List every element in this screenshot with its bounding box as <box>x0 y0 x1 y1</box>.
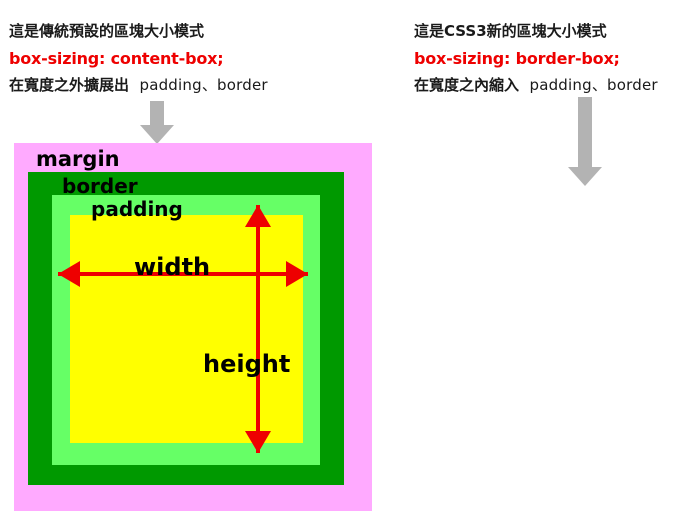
height-arrow-icon <box>245 205 271 453</box>
width-arrow-left-head <box>58 261 80 287</box>
height-arrow-bottom-head <box>245 431 271 453</box>
margin-label: margin <box>36 149 120 170</box>
border-box-diagram: margin border padding width height <box>380 0 700 514</box>
height-arrow-top-head <box>245 205 271 227</box>
width-label: width <box>134 255 210 279</box>
height-arrow-bar <box>256 205 260 453</box>
content-box-diagram: margin border padding width height <box>0 0 380 514</box>
border-label: border <box>62 176 138 196</box>
padding-label: padding <box>91 199 183 219</box>
height-label: height <box>203 352 290 376</box>
width-arrow-right-head <box>286 261 308 287</box>
